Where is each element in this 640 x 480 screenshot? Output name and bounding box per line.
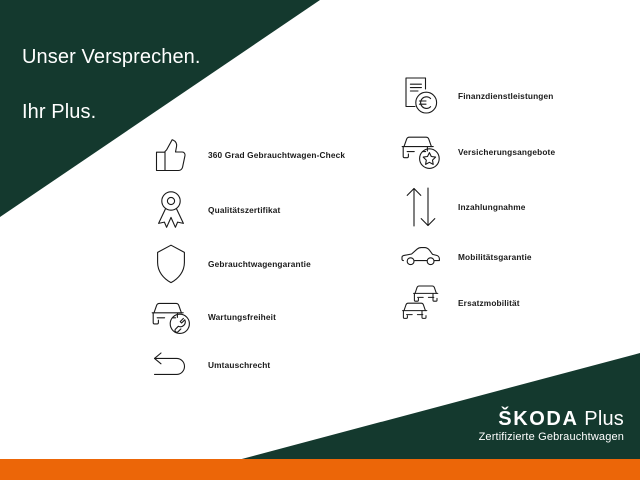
headline-line-2: Ihr Plus.: [22, 99, 201, 127]
feature-label: Finanzdienstleistungen: [458, 91, 554, 101]
car-wrench-icon: [148, 294, 194, 340]
feature-label: 360 Grad Gebrauchtwagen-Check: [208, 150, 345, 160]
feature-label: Gebrauchtwagengarantie: [208, 259, 311, 269]
feature-item-trade-in: Inzahlungnahme: [398, 180, 638, 233]
headline-line-1: Unser Versprechen.: [22, 44, 201, 72]
feature-item-360-check: 360 Grad Gebrauchtwagen-Check: [148, 126, 388, 183]
feature-item-mobility-guarantee: Mobilitätsgarantie: [398, 233, 638, 281]
bottom-orange-bar: [0, 459, 640, 480]
car-side-icon: [398, 234, 444, 280]
feature-item-financial-services: Finanzdienstleistungen: [398, 68, 638, 124]
thumbs-up-icon: [148, 132, 194, 178]
return-arrow-icon: [148, 342, 194, 388]
two-cars-icon: [398, 280, 444, 326]
feature-label: Ersatzmobilität: [458, 298, 520, 308]
feature-label: Versicherungsangebote: [458, 147, 555, 157]
up-down-arrows-icon: [398, 184, 444, 230]
feature-list-right: Finanzdienstleistungen Versicherungsange…: [398, 68, 638, 325]
logo-brand: ŠKODA: [498, 408, 578, 430]
feature-label: Wartungsfreiheit: [208, 312, 276, 322]
feature-item-warranty: Gebrauchtwagengarantie: [148, 236, 388, 291]
logo-suffix: Plus: [584, 408, 624, 430]
shield-icon: [148, 241, 194, 287]
slide-canvas: Unser Versprechen. Ihr Plus. 360 Grad Ge…: [0, 0, 640, 480]
car-star-icon: [398, 129, 444, 175]
quality-rosette-icon: [148, 187, 194, 233]
feature-label: Qualitätszertifikat: [208, 205, 280, 215]
feature-item-insurance-offers: Versicherungsangebote: [398, 124, 638, 180]
feature-item-quality-certificate: Qualitätszertifikat: [148, 183, 388, 236]
logo-tagline: Zertifizierte Gebrauchtwagen: [479, 431, 624, 444]
feature-item-maintenance-free: Wartungsfreiheit: [148, 291, 388, 343]
document-euro-icon: [398, 73, 444, 119]
feature-label: Umtauschrecht: [208, 360, 270, 370]
skoda-plus-logo: ŠKODA Plus Zertifizierte Gebrauchtwagen: [479, 408, 624, 444]
feature-item-replacement-mobility: Ersatzmobilität: [398, 281, 638, 325]
feature-label: Inzahlungnahme: [458, 202, 526, 212]
feature-list-left: 360 Grad Gebrauchtwagen-Check Qualitätsz…: [148, 126, 388, 387]
feature-label: Mobilitätsgarantie: [458, 252, 532, 262]
feature-item-return-right: Umtauschrecht: [148, 343, 388, 387]
logo-main-line: ŠKODA Plus: [479, 408, 624, 430]
